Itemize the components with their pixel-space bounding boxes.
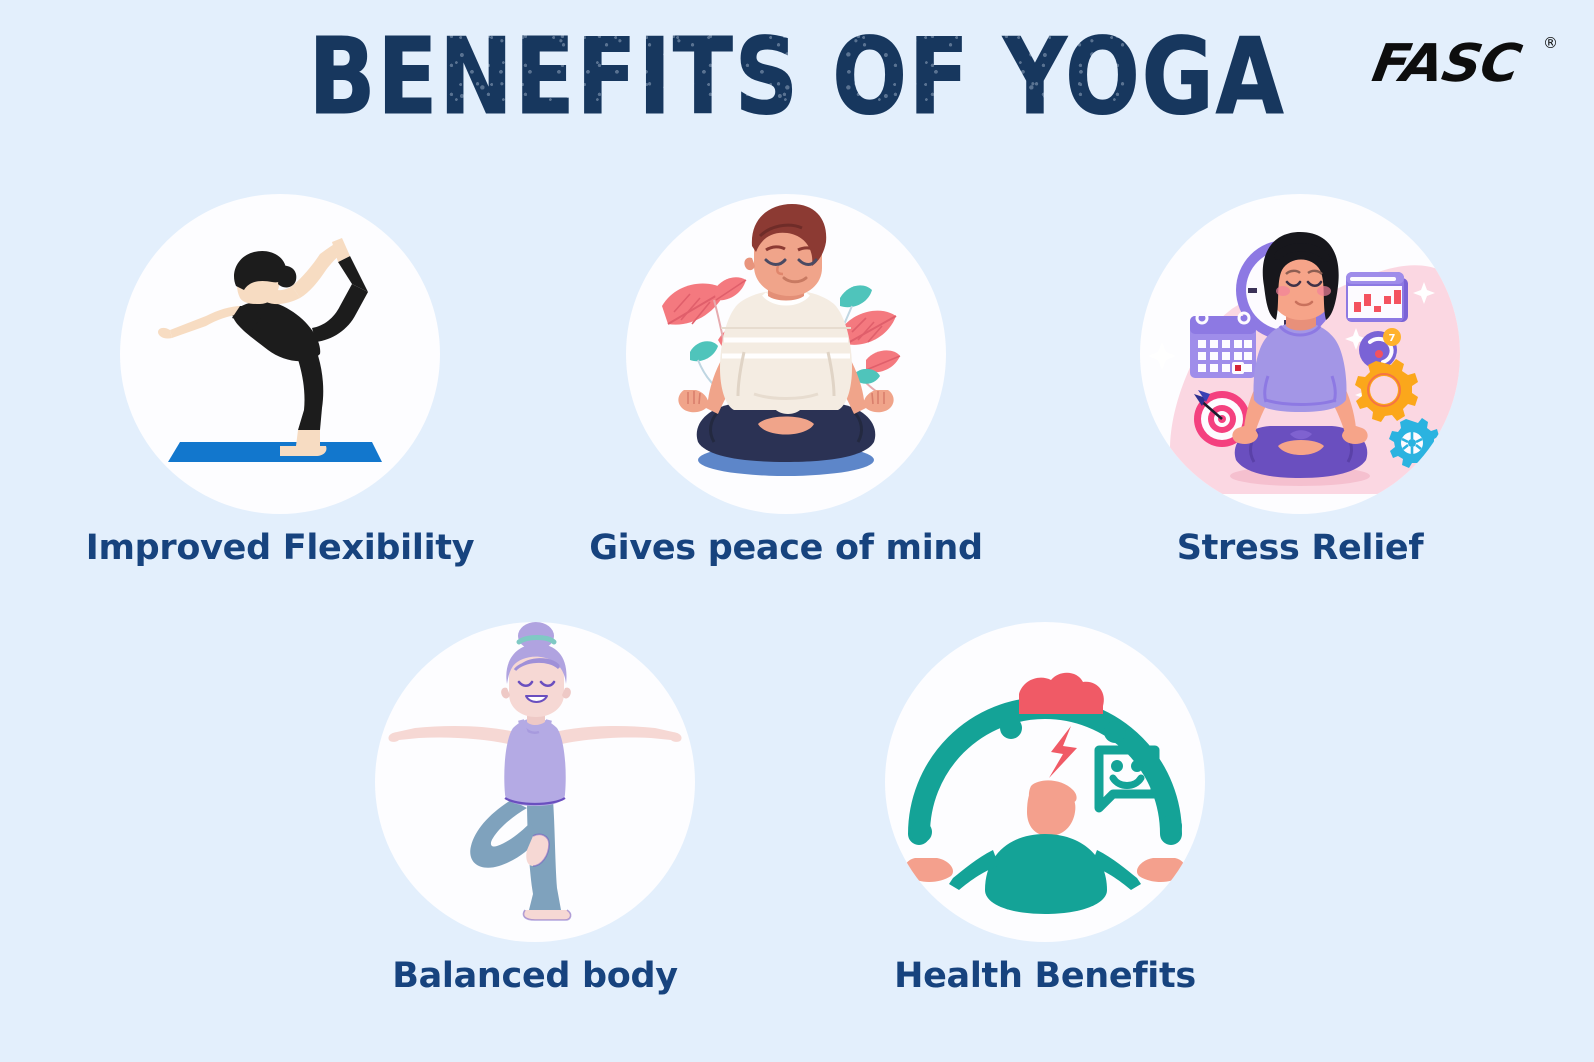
- benefit-icon-circle: 7: [1140, 194, 1460, 514]
- benefit-label: Balanced body: [285, 956, 785, 996]
- woman-meditating-productivity-icon: 7: [1140, 194, 1460, 514]
- lightning-bolt-icon: [1049, 726, 1077, 778]
- benefit-icon-circle: [120, 194, 440, 514]
- dot-left: [1000, 717, 1022, 739]
- dot-right: [1104, 721, 1126, 743]
- page-title: BENEFITS OF YOGA: [56, 22, 1538, 132]
- brand-logo: FASC ®: [1376, 38, 1546, 100]
- registered-trademark-icon: ®: [1543, 34, 1558, 52]
- brand-logo-text: FASC: [1369, 38, 1524, 90]
- woman-tree-pose-icon: [375, 622, 695, 942]
- benefit-icon-circle: [885, 622, 1205, 942]
- benefit-icon-circle: [626, 194, 946, 514]
- benefit-label: Gives peace of mind: [536, 528, 1036, 568]
- woman-dancer-pose-icon: [120, 194, 440, 514]
- notification-badge-count: 7: [1389, 333, 1396, 344]
- benefit-icon-circle: [375, 622, 695, 942]
- health-benefits-icon: [885, 622, 1205, 942]
- bar-chart-window-icon: [1346, 272, 1408, 322]
- calendar-icon: [1190, 313, 1256, 378]
- brain-icon: [1019, 673, 1104, 714]
- man-meditating-lotus-icon: [626, 194, 946, 514]
- benefit-label: Stress Relief: [1050, 528, 1550, 568]
- benefit-label: Health Benefits: [795, 956, 1295, 996]
- benefit-label: Improved Flexibility: [30, 528, 530, 568]
